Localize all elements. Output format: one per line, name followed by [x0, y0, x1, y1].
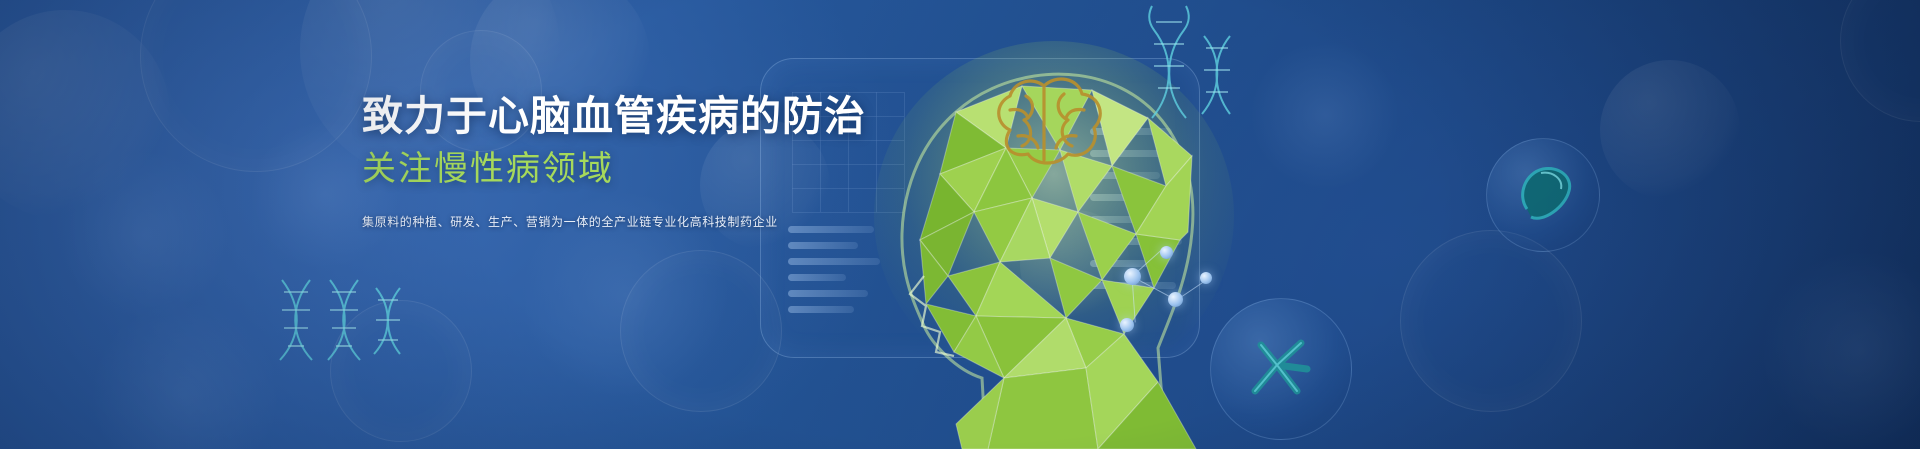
bokeh-circle [140, 0, 372, 172]
bokeh-circle [1400, 230, 1582, 412]
bokeh-circle [1840, 0, 1920, 122]
bokeh-circle [1600, 60, 1740, 200]
dna-helix-right-icon [1132, 4, 1242, 124]
headline-highlight: 心脑血管疾病 [488, 93, 740, 139]
molecule-cluster-icon [1098, 238, 1218, 348]
banner-copy: 致力于心脑血管疾病的防治 关注慢性病领域 集原料的种植、研发、生产、营销为一体的… [362, 92, 882, 230]
molecule-node [1168, 292, 1183, 307]
banner-subline: 关注慢性病领域 [362, 148, 882, 191]
cell-bacteria-bottom-icon [1210, 298, 1352, 440]
bokeh-circle [60, 150, 230, 320]
molecule-node [1160, 246, 1173, 259]
banner-description: 集原料的种植、研发、生产、营销为一体的全产业链专业化高科技制药企业 [362, 213, 882, 230]
molecule-node [1200, 272, 1212, 284]
hero-banner: 致力于心脑血管疾病的防治 关注慢性病领域 集原料的种植、研发、生产、营销为一体的… [0, 0, 1920, 449]
banner-headline: 致力于心脑血管疾病的防治 [362, 92, 882, 140]
molecule-node [1120, 318, 1134, 332]
bokeh-circle [0, 10, 170, 220]
bokeh-circle [90, 300, 280, 449]
molecule-node [1124, 268, 1141, 285]
headline-prefix: 致力于 [362, 93, 488, 139]
headline-suffix: 的防治 [740, 93, 866, 139]
dna-helix-left-icon [268, 262, 408, 372]
cell-bacteria-top-icon [1486, 138, 1600, 252]
bokeh-circle [620, 250, 782, 412]
bokeh-circle [1760, 250, 1920, 449]
